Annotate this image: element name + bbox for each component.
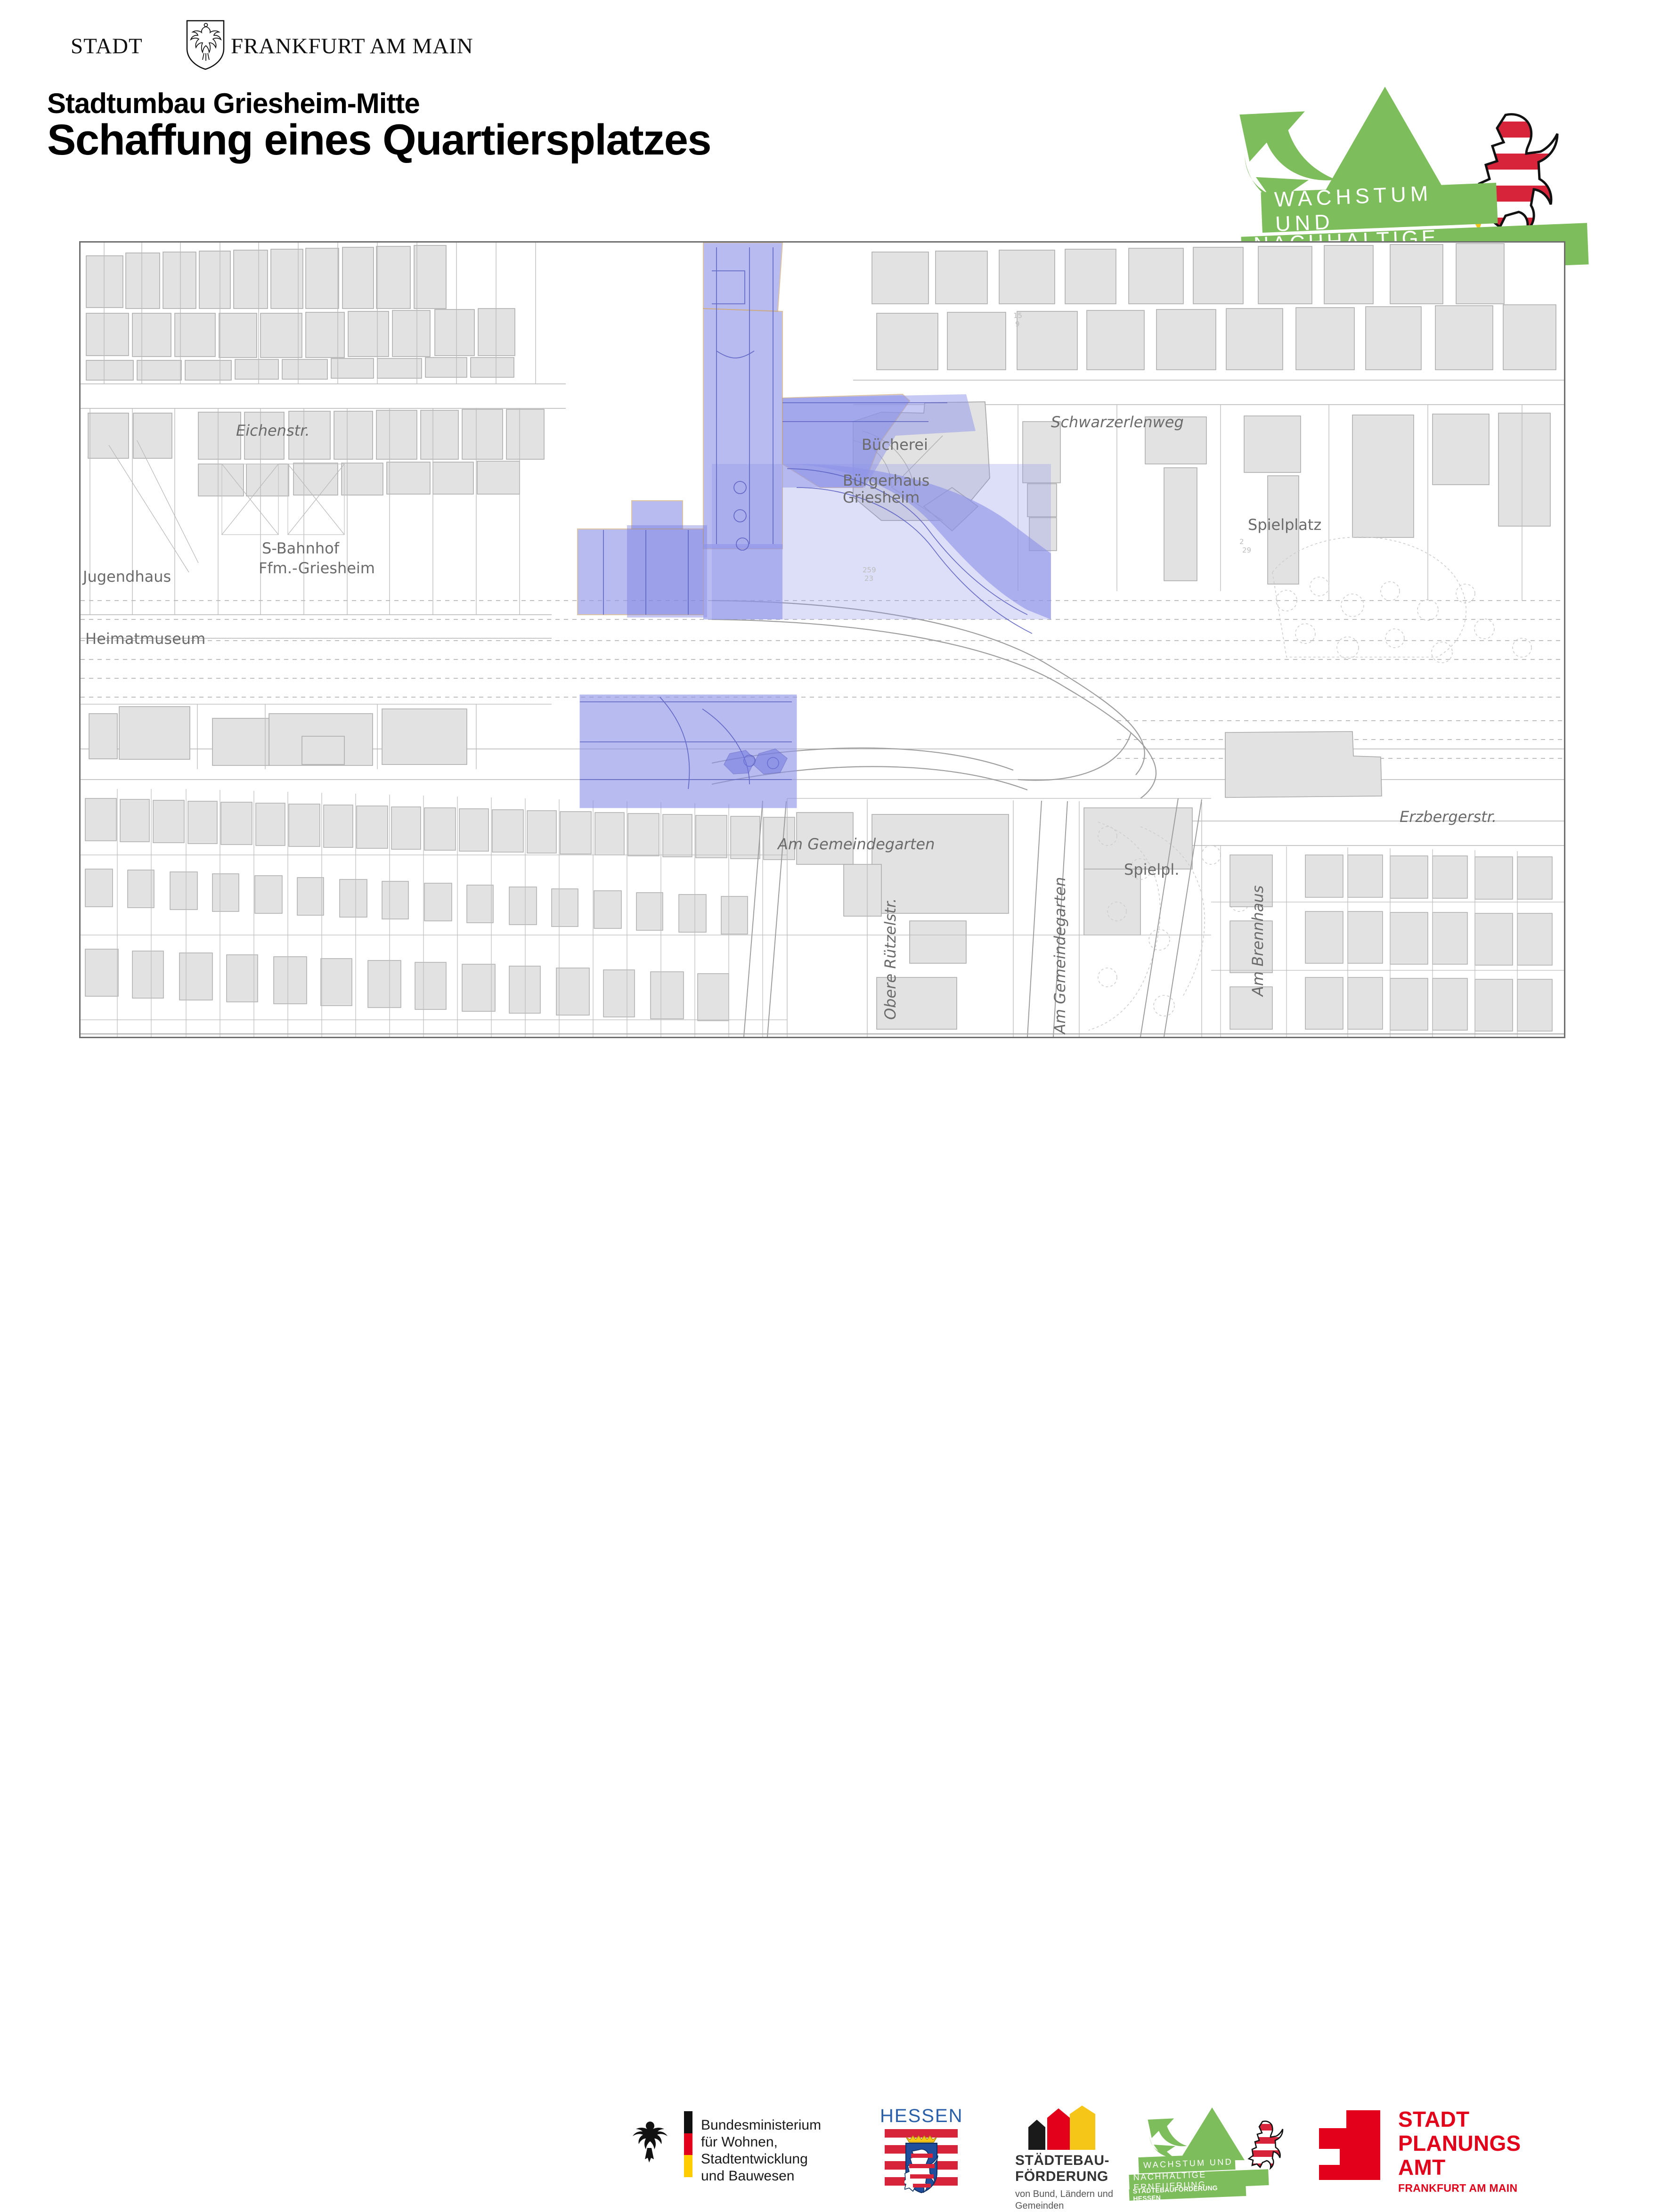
poi-label-spielpl: Spielpl. — [1124, 861, 1179, 878]
logo-bundesministerium-wohnen-stadtentwicklung-bauwesen: Bundesministerium für Wohnen, Stadtentwi… — [627, 2110, 848, 2181]
staedtebaufoerderung-title: STÄDTEBAU- FÖRDERUNG — [1015, 2153, 1109, 2185]
svg-text:9: 9 — [1015, 320, 1020, 328]
sbf-line-2: FÖRDERUNG — [1015, 2169, 1109, 2185]
spa-line-3: AMT — [1398, 2155, 1521, 2179]
spa-line-1: STADT — [1398, 2107, 1521, 2131]
svg-text:23: 23 — [864, 574, 873, 583]
tree-icon — [1179, 2106, 1245, 2162]
bmwsb-line-3: und Bauwesen — [701, 2168, 848, 2185]
poi-label-heimatmuseum: Heimatmuseum — [85, 630, 205, 648]
logo-staedtebaufoerderung: STÄDTEBAU- FÖRDERUNG von Bund, Ländern u… — [1001, 2106, 1119, 2200]
page-footer: Bundesministerium für Wohnen, Stadtentwi… — [0, 1043, 1653, 1168]
logo-stadtplanungsamt: STADT PLANUNGS AMT FRANKFURT AM MAIN — [1319, 2110, 1555, 2193]
poi-label-spielplatz: Spielplatz — [1248, 516, 1321, 534]
logo-wachstum-und-nachhaltige-erneuerung: WACHSTUM UND NACHHALTIGE ERNEUERUNG STÄD… — [1128, 2110, 1284, 2197]
street-label-am-brennhaus: Am Brennhaus — [1249, 886, 1267, 996]
bmwsb-text: Bundesministerium für Wohnen, Stadtentwi… — [701, 2117, 848, 2185]
sbf-sub-2: Gemeinden — [1015, 2200, 1113, 2212]
street-label-eichenstr: Eichenstr. — [236, 422, 310, 439]
hessen-shield-icon — [904, 2135, 938, 2194]
spa-line-2: PLANUNGS — [1398, 2131, 1521, 2155]
sbf-line-1: STÄDTEBAU- — [1015, 2153, 1109, 2169]
page-subtitle: Stadtumbau Griesheim-Mitte — [47, 87, 420, 120]
spa-subline: FRANKFURT AM MAIN — [1398, 2182, 1517, 2195]
frankfurt-eagle-crest-icon — [185, 19, 226, 70]
hessen-wordmark: HESSEN — [880, 2106, 962, 2127]
logo-hessen: HESSEN — [880, 2106, 962, 2195]
staedtebaufoerderung-subtitle: von Bund, Ländern und Gemeinden — [1015, 2188, 1113, 2212]
city-logo-word-frankfurt: FRANKFURT AM MAIN — [231, 33, 473, 59]
german-flag-bar-icon — [684, 2111, 692, 2177]
svg-text:15: 15 — [1013, 311, 1022, 320]
city-logo-word-stadt: STADT — [71, 33, 143, 59]
street-label-schwarzerlenweg: Schwarzerlenweg — [1051, 413, 1184, 431]
poi-label-griesheim: Griesheim — [843, 488, 920, 506]
svg-text:259: 259 — [863, 566, 876, 574]
stadtplanungsamt-wordmark: STADT PLANUNGS AMT — [1398, 2107, 1521, 2179]
street-label-obere-ruetzelstr: Obere Rützelstr. — [881, 898, 899, 1020]
sbf-sub-1: von Bund, Ländern und — [1015, 2188, 1113, 2200]
poi-label-buecherei: Bücherei — [862, 436, 928, 454]
three-houses-icon — [1016, 2106, 1096, 2150]
poi-label-jugendhaus: Jugendhaus — [83, 568, 171, 586]
page-title: Schaffung eines Quartiersplatzes — [47, 115, 711, 165]
city-of-frankfurt-logo: STADT FRANKFURT AM MAIN — [71, 26, 372, 64]
page-header: STADT FRANKFURT AM MAIN Stadtumbau Gries… — [0, 0, 1653, 236]
frankfurt-stadtplanungsamt-mark-icon — [1319, 2110, 1380, 2180]
street-label-am-gemeindegarten-vertical: Am Gemeindegarten — [1051, 877, 1069, 1034]
street-label-erzbergerstr: Erzbergerstr. — [1400, 808, 1497, 826]
cadastral-map[interactable]: 25923 229 159 Eichenstr. Schwarzerlenweg… — [79, 241, 1565, 1038]
wachstum-small-line-1: WACHSTUM UND — [1138, 2154, 1235, 2173]
street-label-am-gemeindegarten: Am Gemeindegarten — [778, 835, 935, 853]
svg-text:29: 29 — [1242, 546, 1251, 554]
bmwsb-line-1: Bundesministerium — [701, 2117, 848, 2134]
hessen-lion-icon — [1245, 2119, 1285, 2171]
poi-label-ffm-griesheim: Ffm.-Griesheim — [259, 559, 375, 577]
map-canvas: 25923 229 159 — [81, 243, 1564, 1037]
poi-label-s-bahnhof: S-Bahnhof — [262, 539, 339, 557]
bmwsb-line-2: für Wohnen, Stadtentwicklung — [701, 2134, 848, 2168]
bundesadler-icon — [627, 2119, 674, 2171]
poi-label-buergerhaus: Bürgerhaus — [843, 472, 929, 489]
svg-text:2: 2 — [1239, 537, 1244, 546]
